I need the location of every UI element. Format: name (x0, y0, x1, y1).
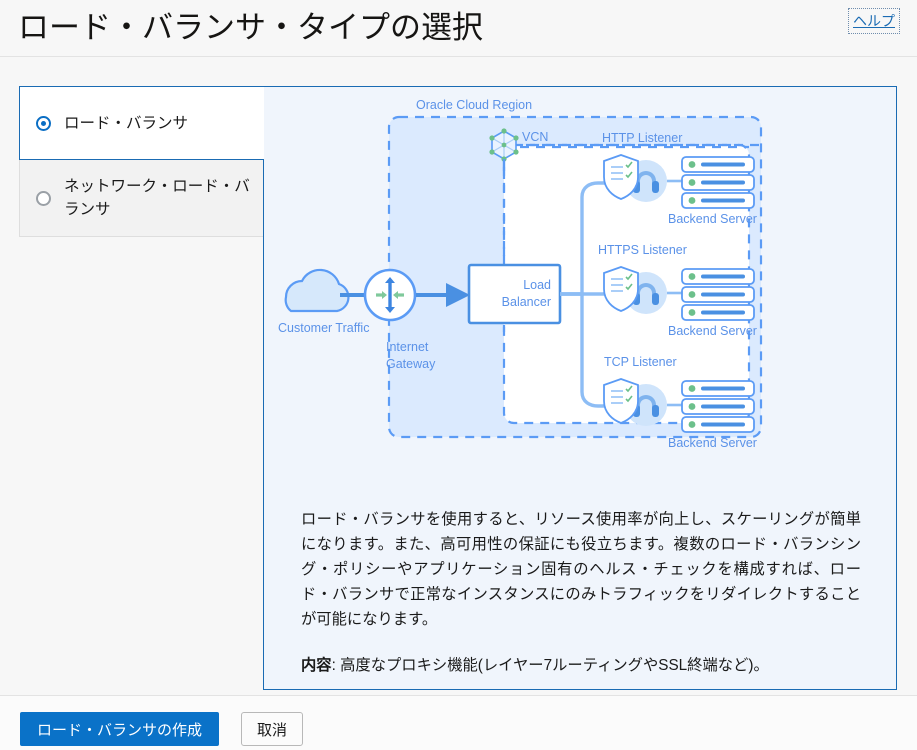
cancel-button[interactable]: 取消 (241, 712, 303, 746)
page-header: ロード・バランサ・タイプの選択 ヘルプ (0, 0, 917, 56)
option-detail-panel: Oracle Cloud Region VCN (263, 86, 897, 690)
backend-server-label-https: Backend Server (668, 324, 757, 338)
customer-traffic-cloud-icon (286, 270, 349, 311)
description-note-label: 内容 (301, 657, 332, 674)
option-network-load-balancer-label: ネットワーク・ロード・バランサ (64, 175, 250, 221)
load-balancer-type-options: ロード・バランサ ネットワーク・ロード・バランサ (19, 86, 264, 237)
backend-server-stack-tcp (682, 381, 754, 432)
description-note: 内容: 高度なプロキシ機能(レイヤー7ルーティングやSSL終端など)。 (301, 653, 861, 678)
backend-server-stack-https (682, 269, 754, 320)
load-balancer-architecture-diagram: Oracle Cloud Region VCN (264, 87, 896, 477)
internet-gateway-icon (364, 270, 416, 320)
diagram-region-label: Oracle Cloud Region (416, 98, 532, 112)
radio-load-balancer-icon[interactable] (36, 116, 51, 131)
option-description: ロード・バランサを使用すると、リソース使用率が向上し、スケーリングが簡単になりま… (301, 507, 861, 678)
description-note-text: 高度なプロキシ機能(レイヤー7ルーティングやSSL終端など)。 (340, 657, 769, 674)
help-link[interactable]: ヘルプ (849, 9, 899, 33)
page-footer: ロード・バランサの作成 取消 (0, 696, 917, 750)
option-load-balancer-label: ロード・バランサ (64, 112, 188, 135)
page-body: ロード・バランサ ネットワーク・ロード・バランサ Oracle Cloud Re… (0, 57, 917, 695)
diagram-load-balancer-label-2: Balancer (502, 295, 551, 309)
option-network-load-balancer[interactable]: ネットワーク・ロード・バランサ (19, 159, 264, 237)
page-title: ロード・バランサ・タイプの選択 (18, 2, 483, 47)
option-load-balancer[interactable]: ロード・バランサ (19, 86, 264, 160)
backend-server-label-tcp: Backend Server (668, 436, 757, 450)
listener-label-tcp: TCP Listener (604, 355, 677, 369)
diagram-customer-traffic-label: Customer Traffic (278, 321, 369, 335)
diagram-internet-gateway-label-2: Gateway (386, 357, 436, 371)
load-balancer-box (469, 265, 560, 323)
description-paragraph: ロード・バランサを使用すると、リソース使用率が向上し、スケーリングが簡単になりま… (301, 507, 861, 632)
diagram-load-balancer-label-1: Load (523, 278, 551, 292)
description-note-separator: : (332, 657, 341, 674)
backend-server-stack-http (682, 157, 754, 208)
radio-network-load-balancer-icon[interactable] (36, 191, 51, 206)
listener-label-https: HTTPS Listener (598, 243, 687, 257)
create-load-balancer-button[interactable]: ロード・バランサの作成 (20, 712, 219, 746)
diagram-internet-gateway-label-1: Internet (386, 340, 429, 354)
listener-label-http: HTTP Listener (602, 131, 682, 145)
diagram-vcn-label: VCN (522, 130, 548, 144)
backend-server-label-http: Backend Server (668, 212, 757, 226)
